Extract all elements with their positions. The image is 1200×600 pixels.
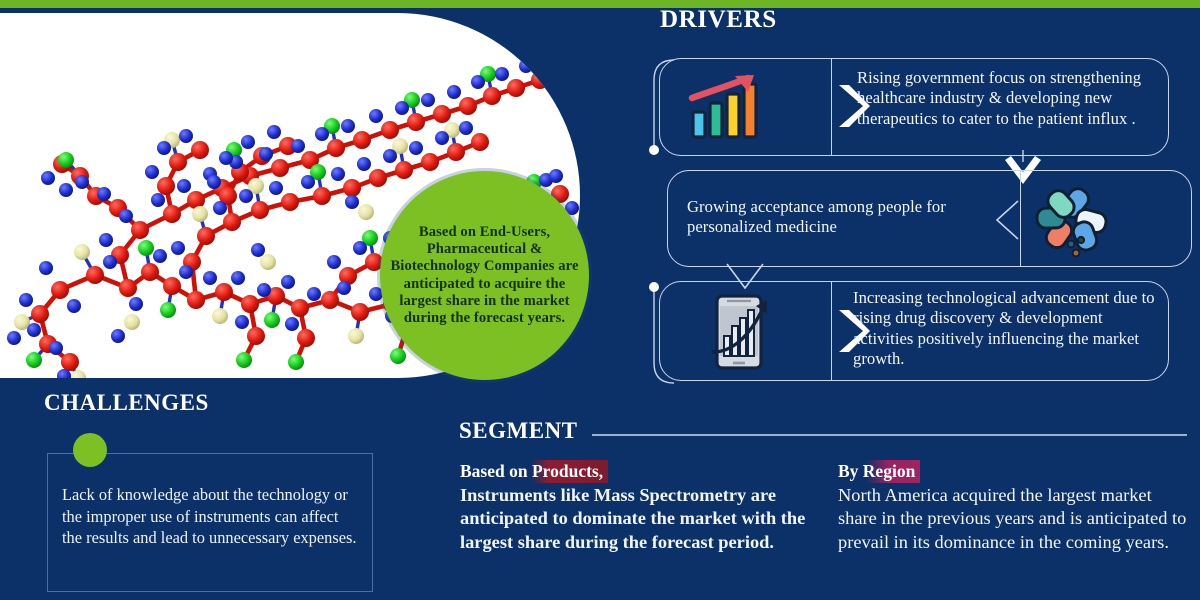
segment-region-body: North America acquired the largest marke…: [838, 484, 1190, 554]
infographic-canvas: Based on End-Users, Pharmaceutical & Bio…: [0, 0, 1200, 600]
driver-2-divider: [1020, 170, 1021, 267]
driver-2-text: Growing acceptance among people for pers…: [687, 197, 1002, 238]
segment-column-region: By Region North America acquired the lar…: [838, 460, 1190, 554]
pills-capsules-icon: [1035, 182, 1111, 258]
drivers-heading: DRIVERS: [660, 6, 777, 34]
driver-3-divider: [831, 281, 832, 381]
segment-region-label: By Region: [838, 460, 920, 483]
segment-column-products: Based on Products, Instruments like Mass…: [460, 460, 810, 554]
hero-callout-circle: Based on End-Users, Pharmaceutical & Bio…: [380, 171, 589, 380]
segment-divider-rule: [592, 434, 1187, 436]
drivers-group: Rising government focus on strengthening…: [645, 50, 1190, 395]
segment-products-body: Instruments like Mass Spectrometry are a…: [460, 484, 810, 554]
top-accent-strip: [0, 0, 1200, 8]
driver-1-text: Rising government focus on strengthening…: [857, 68, 1162, 129]
challenges-text: Lack of knowledge about the technology o…: [62, 484, 362, 549]
hero-callout-text: Based on End-Users, Pharmaceutical & Bio…: [380, 224, 589, 327]
driver-1-divider: [831, 58, 832, 156]
driver-2-chevron-icon: [994, 200, 1020, 240]
challenges-bullet-dot: [73, 433, 107, 467]
segment-products-label: Based on Products,: [460, 460, 608, 483]
segment-heading: SEGMENT: [459, 418, 578, 444]
smartphone-analytics-icon: [707, 294, 781, 370]
bar-chart-growth-icon: [688, 74, 760, 140]
challenges-heading: CHALLENGES: [44, 390, 209, 416]
driver-3-text: Increasing technological advancement due…: [853, 288, 1165, 370]
